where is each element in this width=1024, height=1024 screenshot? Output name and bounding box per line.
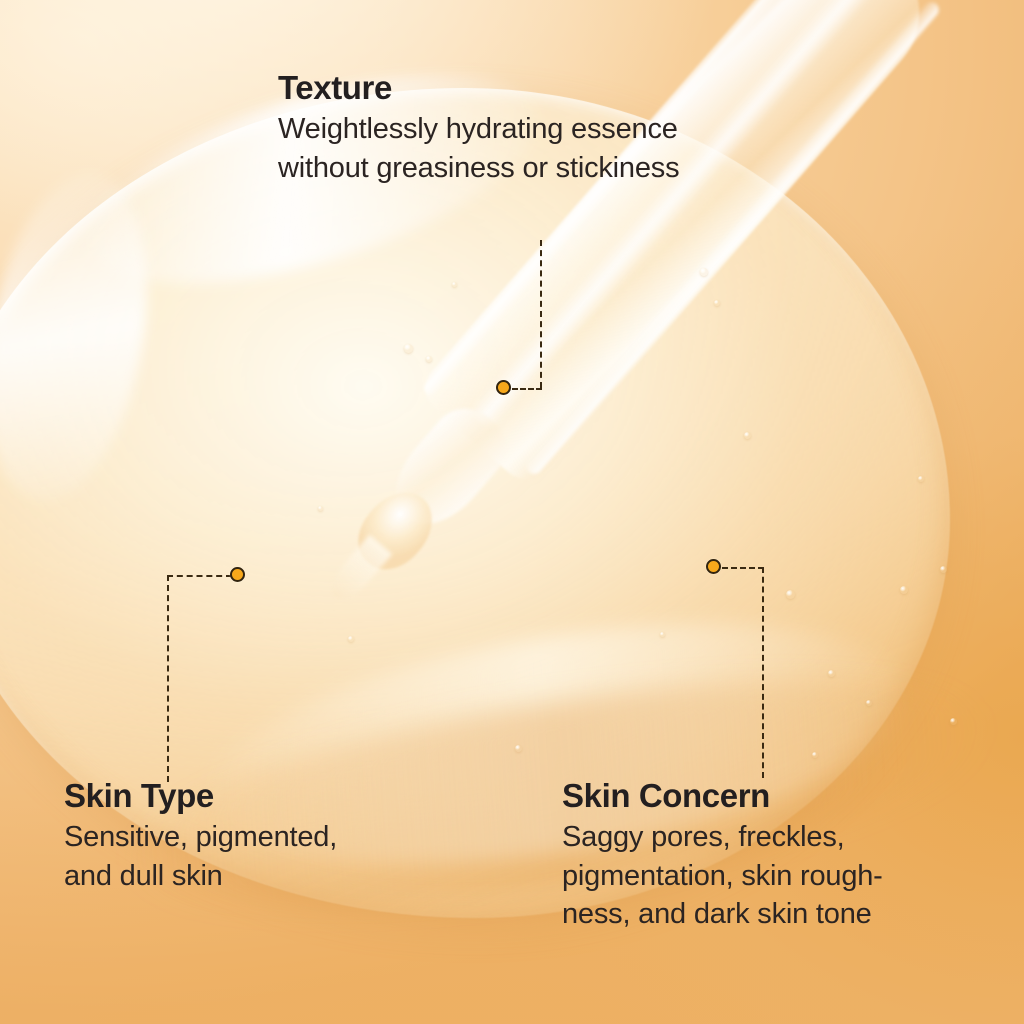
air-bubble: [744, 432, 751, 439]
air-bubble: [918, 476, 924, 482]
callout-skin-concern-line-vertical: [762, 567, 764, 778]
text-block-skin-concern: Skin Concern Saggy pores, freckles, pigm…: [562, 778, 883, 934]
texture-body: Weightlessly hydrating essence without g…: [278, 110, 679, 187]
air-bubble: [318, 506, 323, 511]
skin-concern-heading: Skin Concern: [562, 778, 883, 814]
air-bubble: [786, 590, 795, 599]
text-block-texture: Texture Weightlessly hydrating essence w…: [278, 70, 679, 187]
air-bubble: [866, 700, 872, 706]
air-bubble: [714, 300, 720, 306]
air-bubble: [700, 268, 708, 276]
callout-dot-icon: [706, 559, 721, 574]
skin-type-body: Sensitive, pigmented, and dull skin: [64, 818, 337, 895]
callout-skin-type-line-horizontal: [167, 575, 232, 577]
texture-heading: Texture: [278, 70, 679, 106]
air-bubble: [515, 745, 522, 752]
product-infographic: Texture Weightlessly hydrating essence w…: [0, 0, 1024, 1024]
air-bubble: [900, 586, 908, 594]
air-bubble: [828, 670, 835, 677]
callout-skin-concern-line-horizontal: [722, 567, 764, 569]
air-bubble: [426, 356, 432, 362]
air-bubble: [940, 566, 947, 573]
callout-texture-line-horizontal: [512, 388, 542, 390]
callout-skin-type-line-vertical: [167, 575, 169, 782]
air-bubble: [950, 718, 957, 725]
skin-type-heading: Skin Type: [64, 778, 337, 814]
callout-dot-icon: [496, 380, 511, 395]
air-bubble: [452, 282, 457, 287]
callout-dot-icon: [230, 567, 245, 582]
air-bubble: [660, 632, 665, 637]
text-block-skin-type: Skin Type Sensitive, pigmented, and dull…: [64, 778, 337, 895]
skin-concern-body: Saggy pores, freckles, pigmentation, ski…: [562, 818, 883, 934]
air-bubble: [404, 344, 413, 353]
callout-texture-line-vertical: [540, 240, 542, 388]
air-bubble: [348, 636, 354, 642]
air-bubble: [812, 752, 818, 758]
